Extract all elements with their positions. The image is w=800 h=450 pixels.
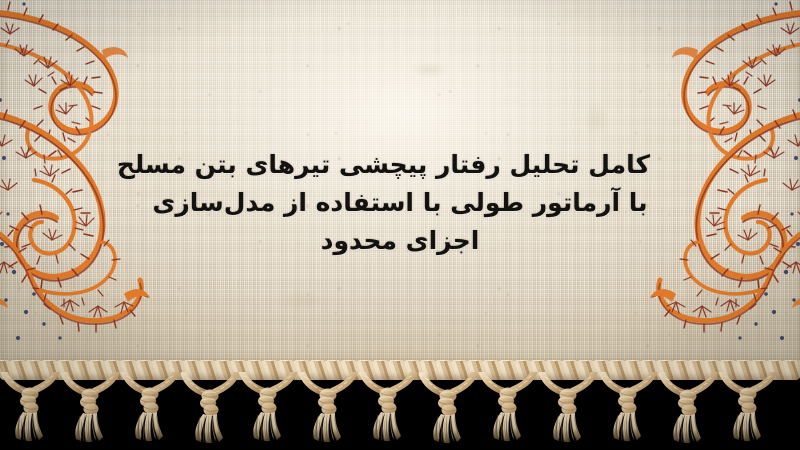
- title-line-3: اجزای محدود: [150, 222, 650, 260]
- title-line-1: کامل تحلیل رفتار پیچشی تیرهای بتن مسلح: [150, 146, 650, 184]
- braided-cord-border: [0, 360, 800, 380]
- title-block: کامل تحلیل رفتار پیچشی تیرهای بتن مسلح ب…: [0, 146, 800, 260]
- title-card-canvas: کامل تحلیل رفتار پیچشی تیرهای بتن مسلح ب…: [0, 0, 800, 450]
- title-line-2: با آرماتور طولی با استفاده از مدل‌سازی: [150, 184, 650, 222]
